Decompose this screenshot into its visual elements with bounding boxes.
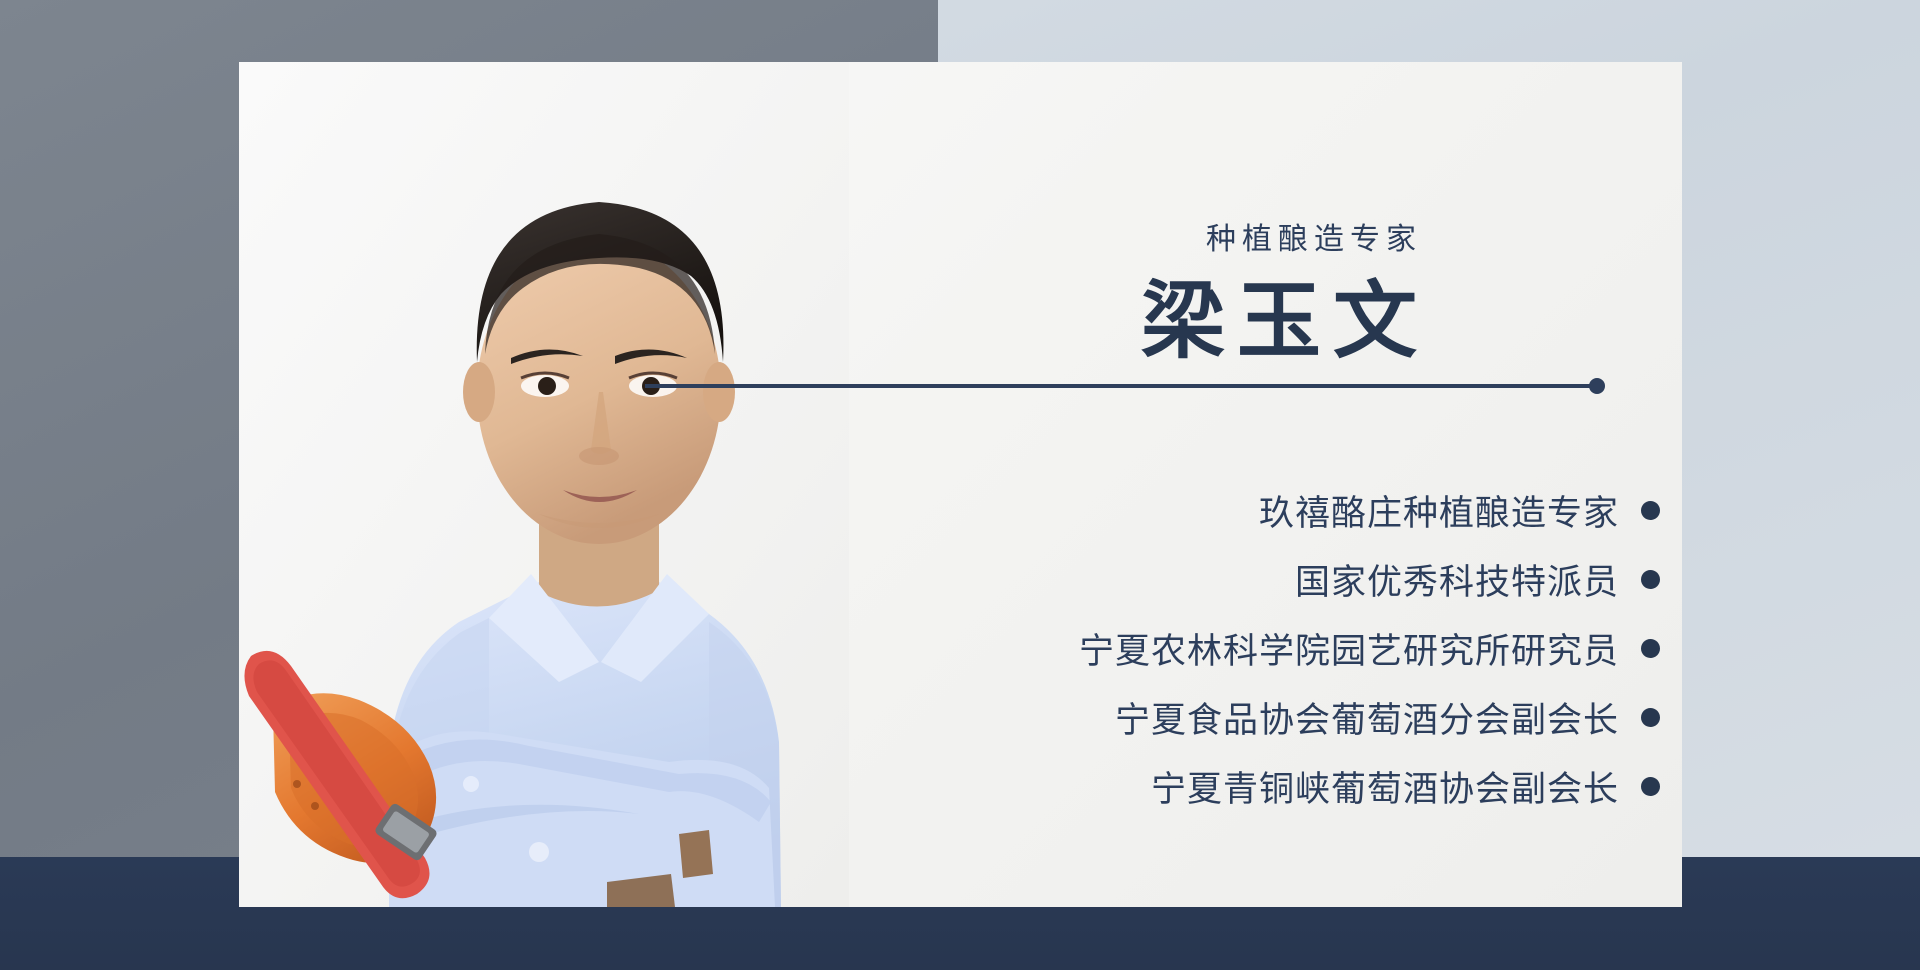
list-item: 国家优秀科技特派员 [1295,554,1660,605]
credential-label: 宁夏农林科学院园艺研究所研究员 [1079,623,1619,674]
portrait-photo [239,62,849,907]
bullet-dot-icon [1641,708,1660,727]
poster-canvas: 种植酿造专家 梁玉文 [0,0,1920,970]
bullet-dot-icon [1641,501,1660,520]
list-item: 玖禧酪庄种植酿造专家 [1259,485,1660,536]
profile-subtitle: 种植酿造专家 [1206,214,1422,258]
credential-label: 国家优秀科技特派员 [1295,554,1619,605]
title-divider-dot [1589,378,1605,394]
list-item: 宁夏食品协会葡萄酒分会副会长 [1115,692,1660,743]
list-item: 宁夏农林科学院园艺研究所研究员 [1079,623,1660,674]
bullet-dot-icon [1641,639,1660,658]
profile-name: 梁玉文 [1141,254,1429,375]
credential-label: 宁夏食品协会葡萄酒分会副会长 [1115,692,1619,743]
bullet-dot-icon [1641,777,1660,796]
credential-label: 宁夏青铜峡葡萄酒协会副会长 [1151,761,1619,812]
credentials-list: 玖禧酪庄种植酿造专家 国家优秀科技特派员 宁夏农林科学院园艺研究所研究员 宁夏食… [1079,485,1660,812]
credential-label: 玖禧酪庄种植酿造专家 [1259,485,1619,536]
list-item: 宁夏青铜峡葡萄酒协会副会长 [1151,761,1660,812]
bullet-dot-icon [1641,570,1660,589]
title-divider [645,384,1601,388]
